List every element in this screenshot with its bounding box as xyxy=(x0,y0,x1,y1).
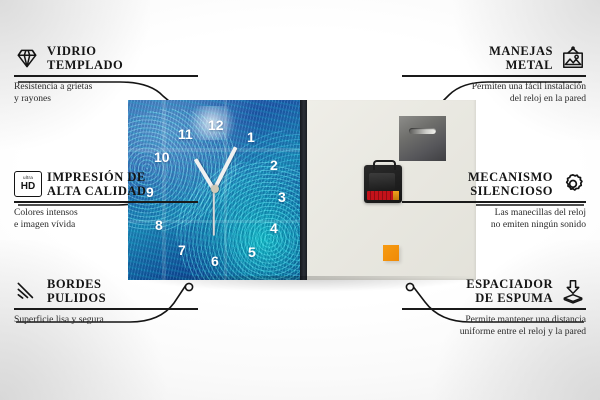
feature-rule xyxy=(14,201,198,203)
feature-title-line2: SILENCIOSO xyxy=(470,184,553,198)
feature-rule xyxy=(402,308,586,310)
feature-title-line1: MECANISMO xyxy=(468,170,553,184)
feature-title-line1: MANEJAS xyxy=(489,44,553,58)
feature-description: Colores intensos e imagen vívida xyxy=(14,207,198,232)
feature-header: MANEJAS METAL xyxy=(402,44,586,72)
hanging-picture-icon xyxy=(560,45,586,71)
feature-title: MECANISMO SILENCIOSO xyxy=(468,170,553,198)
polished-edges-icon xyxy=(14,278,40,304)
feature-title-line2: ALTA CALIDAD xyxy=(47,184,146,198)
feature-desc-line2: del reloj en la pared xyxy=(510,93,586,104)
feature-title-line1: BORDES xyxy=(47,277,101,291)
feature-vidrio-templado: VIDRIO TEMPLADO Resistencia a grietas y … xyxy=(14,44,198,105)
feature-header: ultra HD IMPRESIÓN DE ALTA CALIDAD xyxy=(14,170,198,198)
feature-desc-line2: e imagen vívida xyxy=(14,219,75,230)
feature-desc-line1: Resistencia a grietas xyxy=(14,81,92,92)
metal-hanger-plate xyxy=(399,116,446,161)
feature-title: MANEJAS METAL xyxy=(489,44,553,72)
clock-numeral-2: 2 xyxy=(270,158,278,172)
foam-spacer xyxy=(383,245,399,261)
feature-title-line2: PULIDOS xyxy=(47,291,106,305)
clock-numeral-5: 5 xyxy=(248,245,256,259)
feature-rule xyxy=(402,201,586,203)
clock-numeral-1: 1 xyxy=(247,130,255,144)
feature-rule xyxy=(14,75,198,77)
feature-desc-line1: Superficie lisa y segura xyxy=(14,314,104,325)
feature-rule xyxy=(14,308,198,310)
mechanism-hanger-tab xyxy=(373,160,396,170)
feature-desc-line1: Las manecillas del reloj xyxy=(495,207,586,218)
hand-center-cap xyxy=(211,185,219,193)
feature-title: VIDRIO TEMPLADO xyxy=(47,44,123,72)
feature-desc-line1: Permite mantener una distancia xyxy=(465,314,586,325)
feature-description: Superficie lisa y segura xyxy=(14,314,198,326)
feature-header: BORDES PULIDOS xyxy=(14,277,198,305)
feature-title: IMPRESIÓN DE ALTA CALIDAD xyxy=(47,170,146,198)
feature-desc-line2: y rayones xyxy=(14,93,51,104)
feature-title: BORDES PULIDOS xyxy=(47,277,106,305)
foam-spacer-icon xyxy=(560,278,586,304)
diamond-icon xyxy=(14,45,40,71)
feature-title-line2: METAL xyxy=(506,58,553,72)
feature-description: Permiten una fácil instalación del reloj… xyxy=(402,81,586,106)
feature-desc-line1: Permiten una fácil instalación xyxy=(472,81,586,92)
feature-description: Resistencia a grietas y rayones xyxy=(14,81,198,106)
feature-bordes-pulidos: BORDES PULIDOS Superficie lisa y segura xyxy=(14,277,198,326)
mechanism-detail xyxy=(369,173,395,190)
clock-numeral-7: 7 xyxy=(178,243,186,257)
feature-header: VIDRIO TEMPLADO xyxy=(14,44,198,72)
feature-desc-line1: Colores intensos xyxy=(14,207,78,218)
feature-rule xyxy=(402,75,586,77)
feature-impresion-alta-calidad: ultra HD IMPRESIÓN DE ALTA CALIDAD Color… xyxy=(14,170,198,231)
second-hand xyxy=(213,190,215,236)
feature-description: Las manecillas del reloj no emiten ningú… xyxy=(402,207,586,232)
infographic-canvas: 12 1 2 3 4 5 6 7 8 9 10 11 xyxy=(0,0,600,400)
clock-numeral-10: 10 xyxy=(154,150,170,164)
clock-numeral-11: 11 xyxy=(178,127,193,141)
battery xyxy=(367,191,395,200)
feature-title-line2: TEMPLADO xyxy=(47,58,123,72)
battery-terminal xyxy=(393,191,399,200)
feature-description: Permite mantener una distancia uniforme … xyxy=(402,314,586,339)
feature-mecanismo-silencioso: MECANISMO SILENCIOSO Las manecillas del … xyxy=(402,170,586,231)
panel-edge-strip xyxy=(300,100,307,280)
clock-numeral-4: 4 xyxy=(270,221,278,235)
clock-numeral-6: 6 xyxy=(211,254,219,268)
feature-title-line1: ESPACIADOR xyxy=(466,277,553,291)
feature-title-line1: VIDRIO xyxy=(47,44,97,58)
feature-manejas-metal: MANEJAS METAL Permiten una fácil instala… xyxy=(402,44,586,105)
gear-icon xyxy=(560,171,586,197)
feature-desc-line2: no emiten ningún sonido xyxy=(491,219,586,230)
feature-header: MECANISMO SILENCIOSO xyxy=(402,170,586,198)
ultra-hd-icon-main-text: HD xyxy=(21,182,35,192)
clock-numeral-12: 12 xyxy=(208,118,224,132)
feature-desc-line2: uniforme entre el reloj y la pared xyxy=(460,326,586,337)
feature-header: ESPACIADOR DE ESPUMA xyxy=(402,277,586,305)
clock-mechanism xyxy=(364,165,402,203)
hanger-slot xyxy=(409,128,436,134)
clock-numeral-3: 3 xyxy=(278,190,286,204)
feature-title-line2: DE ESPUMA xyxy=(475,291,553,305)
feature-title: ESPACIADOR DE ESPUMA xyxy=(466,277,553,305)
ultra-hd-icon: ultra HD xyxy=(14,171,40,197)
feature-espaciador-de-espuma: ESPACIADOR DE ESPUMA Permite mantener un… xyxy=(402,277,586,338)
feature-title-line1: IMPRESIÓN DE xyxy=(47,170,146,184)
